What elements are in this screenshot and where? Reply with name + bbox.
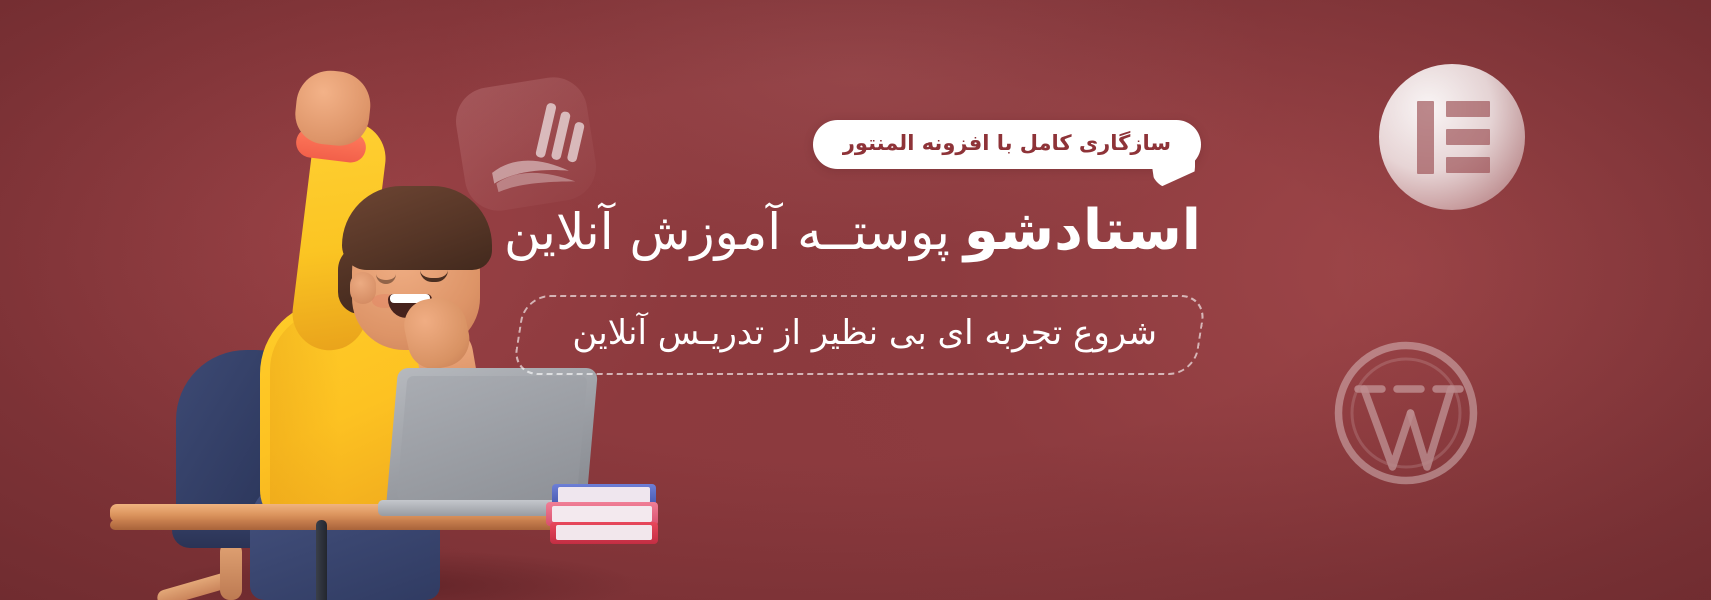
subtitle-text: شروع تجربه ای بی نظیر از تدریـس آنلاین xyxy=(572,313,1157,353)
brand-name: استادشو xyxy=(964,198,1201,263)
headline-rest: پوستــه آموزش آنلاین xyxy=(504,203,950,261)
hero-copy: سازگاری کامل با افزونه المنتور استادشوپو… xyxy=(501,120,1201,375)
book-pages xyxy=(552,506,652,522)
hair xyxy=(342,186,492,270)
book-red xyxy=(550,522,658,544)
compatibility-badge-label: سازگاری کامل با افزونه المنتور xyxy=(843,131,1171,155)
book-pages xyxy=(556,525,652,540)
laptop-screen-inner xyxy=(397,376,588,500)
subtitle-box: شروع تجربه ای بی نظیر از تدریـس آنلاین xyxy=(518,295,1201,375)
hero-banner: سازگاری کامل با افزونه المنتور استادشوپو… xyxy=(0,0,1711,600)
chair-leg-right xyxy=(220,542,242,600)
compatibility-badge[interactable]: سازگاری کامل با افزونه المنتور xyxy=(813,120,1201,169)
desk-leg xyxy=(316,520,327,600)
book-pages xyxy=(558,487,650,503)
badge-row: سازگاری کامل با افزونه المنتور xyxy=(501,120,1201,169)
page-title: استادشوپوستــه آموزش آنلاین xyxy=(501,195,1201,267)
